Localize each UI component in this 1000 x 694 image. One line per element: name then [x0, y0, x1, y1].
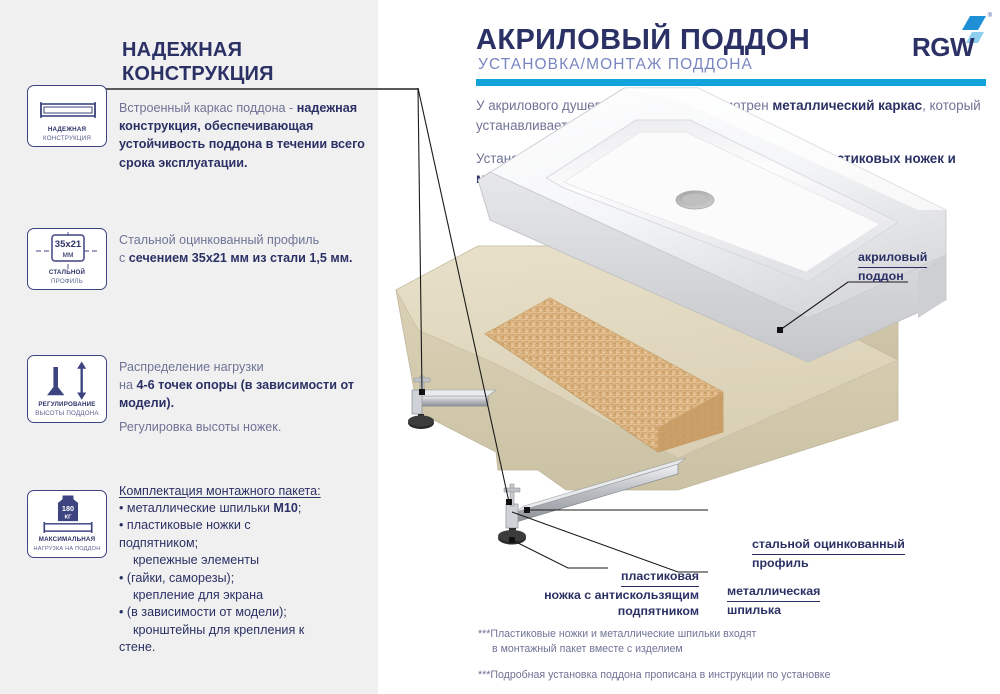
mounting-kit-item: подпятником; — [119, 535, 377, 552]
frame-bracket — [506, 504, 518, 528]
icon-caption-2: НАГРУЗКА НА ПОДДОН — [28, 546, 106, 552]
feature-text-extra: Регулировка высоты ножек. — [119, 418, 371, 436]
steel-profile-icon: 35х21 мм СТАЛЬНОЙ ПРОФИЛЬ — [27, 228, 107, 290]
callout-acrylic-tray-line1: акриловый — [858, 249, 927, 268]
height-adjust-glyph — [28, 356, 108, 418]
rgw-logo-mark: RGW — [910, 14, 992, 66]
svg-text:180: 180 — [62, 504, 74, 513]
mounting-kit-list: металлические шпильки M10;пластиковые но… — [119, 500, 377, 657]
footnote-1: ***Пластиковые ножки и металлические шпи… — [478, 627, 993, 657]
height-adjust-icon: РЕГУЛИРОВАНИЕ ВЫСОТЫ ПОДДОНА — [27, 355, 107, 423]
mounting-kit-item-bold: M10 — [273, 501, 298, 515]
mounting-kit-item: (в зависимости от модели); — [119, 604, 377, 621]
callout-steel-profile-line1: стальной оцинкованный — [752, 536, 905, 555]
callout-plastic-foot-line1: пластиковая — [621, 568, 699, 587]
callout-plastic-foot-line3: подпятником — [389, 603, 699, 620]
page-title: АКРИЛОВЫЙ ПОДДОН — [476, 24, 810, 57]
callout-plastic-foot: пластиковая ножка с антискользящим подпя… — [389, 568, 699, 620]
mounting-kit-block: Комплектация монтажного пакета: металлич… — [119, 483, 377, 657]
icon-caption-2: ПРОФИЛЬ — [28, 278, 106, 285]
callout-acrylic-tray: акриловый поддон — [858, 249, 927, 284]
feature-text-plain: Распределение нагрузки — [119, 360, 264, 374]
mounting-kit-item: пластиковые ножки с — [119, 517, 377, 534]
footnote-1-line1: ***Пластиковые ножки и металлические шпи… — [478, 627, 993, 642]
feature-text-bold: 4-6 точек опоры (в зависимости от модели… — [119, 378, 354, 410]
mounting-kit-item: крепежные элементы — [119, 552, 377, 569]
footnote-2: ***Подробная установка поддона прописана… — [478, 668, 993, 683]
mounting-kit-item: крепление для экрана — [119, 587, 377, 604]
callout-metal-stud: металлическая шпилька — [727, 583, 820, 618]
feature-text: Распределение нагрузки на 4-6 точек опор… — [119, 358, 371, 413]
icon-caption-1: РЕГУЛИРОВАНИЕ — [28, 401, 106, 408]
svg-text:КГ: КГ — [65, 514, 73, 520]
frame-profile-icon: НАДЕЖНАЯ КОНСТРУКЦИЯ — [27, 85, 107, 147]
feature-text: Встроенный каркас поддона - надежная кон… — [119, 99, 371, 172]
mounting-kit-item: стене. — [119, 639, 377, 656]
callout-acrylic-tray-line2: поддон — [858, 268, 927, 285]
svg-text:35х21: 35х21 — [55, 239, 82, 250]
icon-caption-1: НАДЕЖНАЯ — [28, 126, 106, 133]
rgw-logo: RGW ® — [910, 14, 992, 66]
mounting-kit-item: (гайки, саморезы); — [119, 570, 377, 587]
callout-metal-stud-line1: металлическая — [727, 583, 820, 602]
icon-caption-1: СТАЛЬНОЙ — [28, 269, 106, 276]
mounting-kit-item: кронштейны для крепления к — [119, 622, 377, 639]
feature-text: Стальной оцинкованный профиль с сечением… — [119, 231, 371, 267]
svg-text:RGW: RGW — [912, 32, 975, 62]
icon-caption-1: МАКСИМАЛЬНАЯ — [28, 536, 106, 543]
feature-text-plain2: на — [119, 378, 136, 392]
max-load-glyph: 180 КГ — [28, 491, 108, 553]
feature-text-bold: сечением 35х21 мм из стали 1,5 мм. — [129, 251, 353, 265]
svg-text:мм: мм — [63, 250, 74, 259]
icon-caption-2: ВЫСОТЫ ПОДДОНА — [28, 410, 106, 417]
callout-metal-stud-line2: шпилька — [727, 602, 820, 619]
mounting-kit-title: Комплектация монтажного пакета: — [119, 483, 377, 500]
icon-caption-2: КОНСТРУКЦИЯ — [28, 135, 106, 142]
feature-text-plain: Стальной оцинкованный профиль — [119, 233, 319, 247]
mounting-kit-item: металлические шпильки M10; — [119, 500, 377, 517]
max-load-icon: 180 КГ МАКСИМАЛЬНАЯ НАГРУЗКА НА ПОДДОН — [27, 490, 107, 558]
shower-tray-exploded-illustration — [378, 60, 1000, 620]
callout-plastic-foot-line2: ножка с антискользящим — [389, 587, 699, 604]
callout-steel-profile: стальной оцинкованный профиль — [752, 536, 905, 571]
registered-mark: ® — [988, 13, 992, 19]
callout-steel-profile-line2: профиль — [752, 555, 905, 572]
feature-text-plain3: Регулировка высоты ножек. — [119, 420, 281, 434]
feature-text-plain2: с — [119, 251, 129, 265]
feature-text-plain: Встроенный каркас поддона - — [119, 101, 297, 115]
footnote-1-line2: в монтажный пакет вместе с изделием — [478, 642, 993, 657]
